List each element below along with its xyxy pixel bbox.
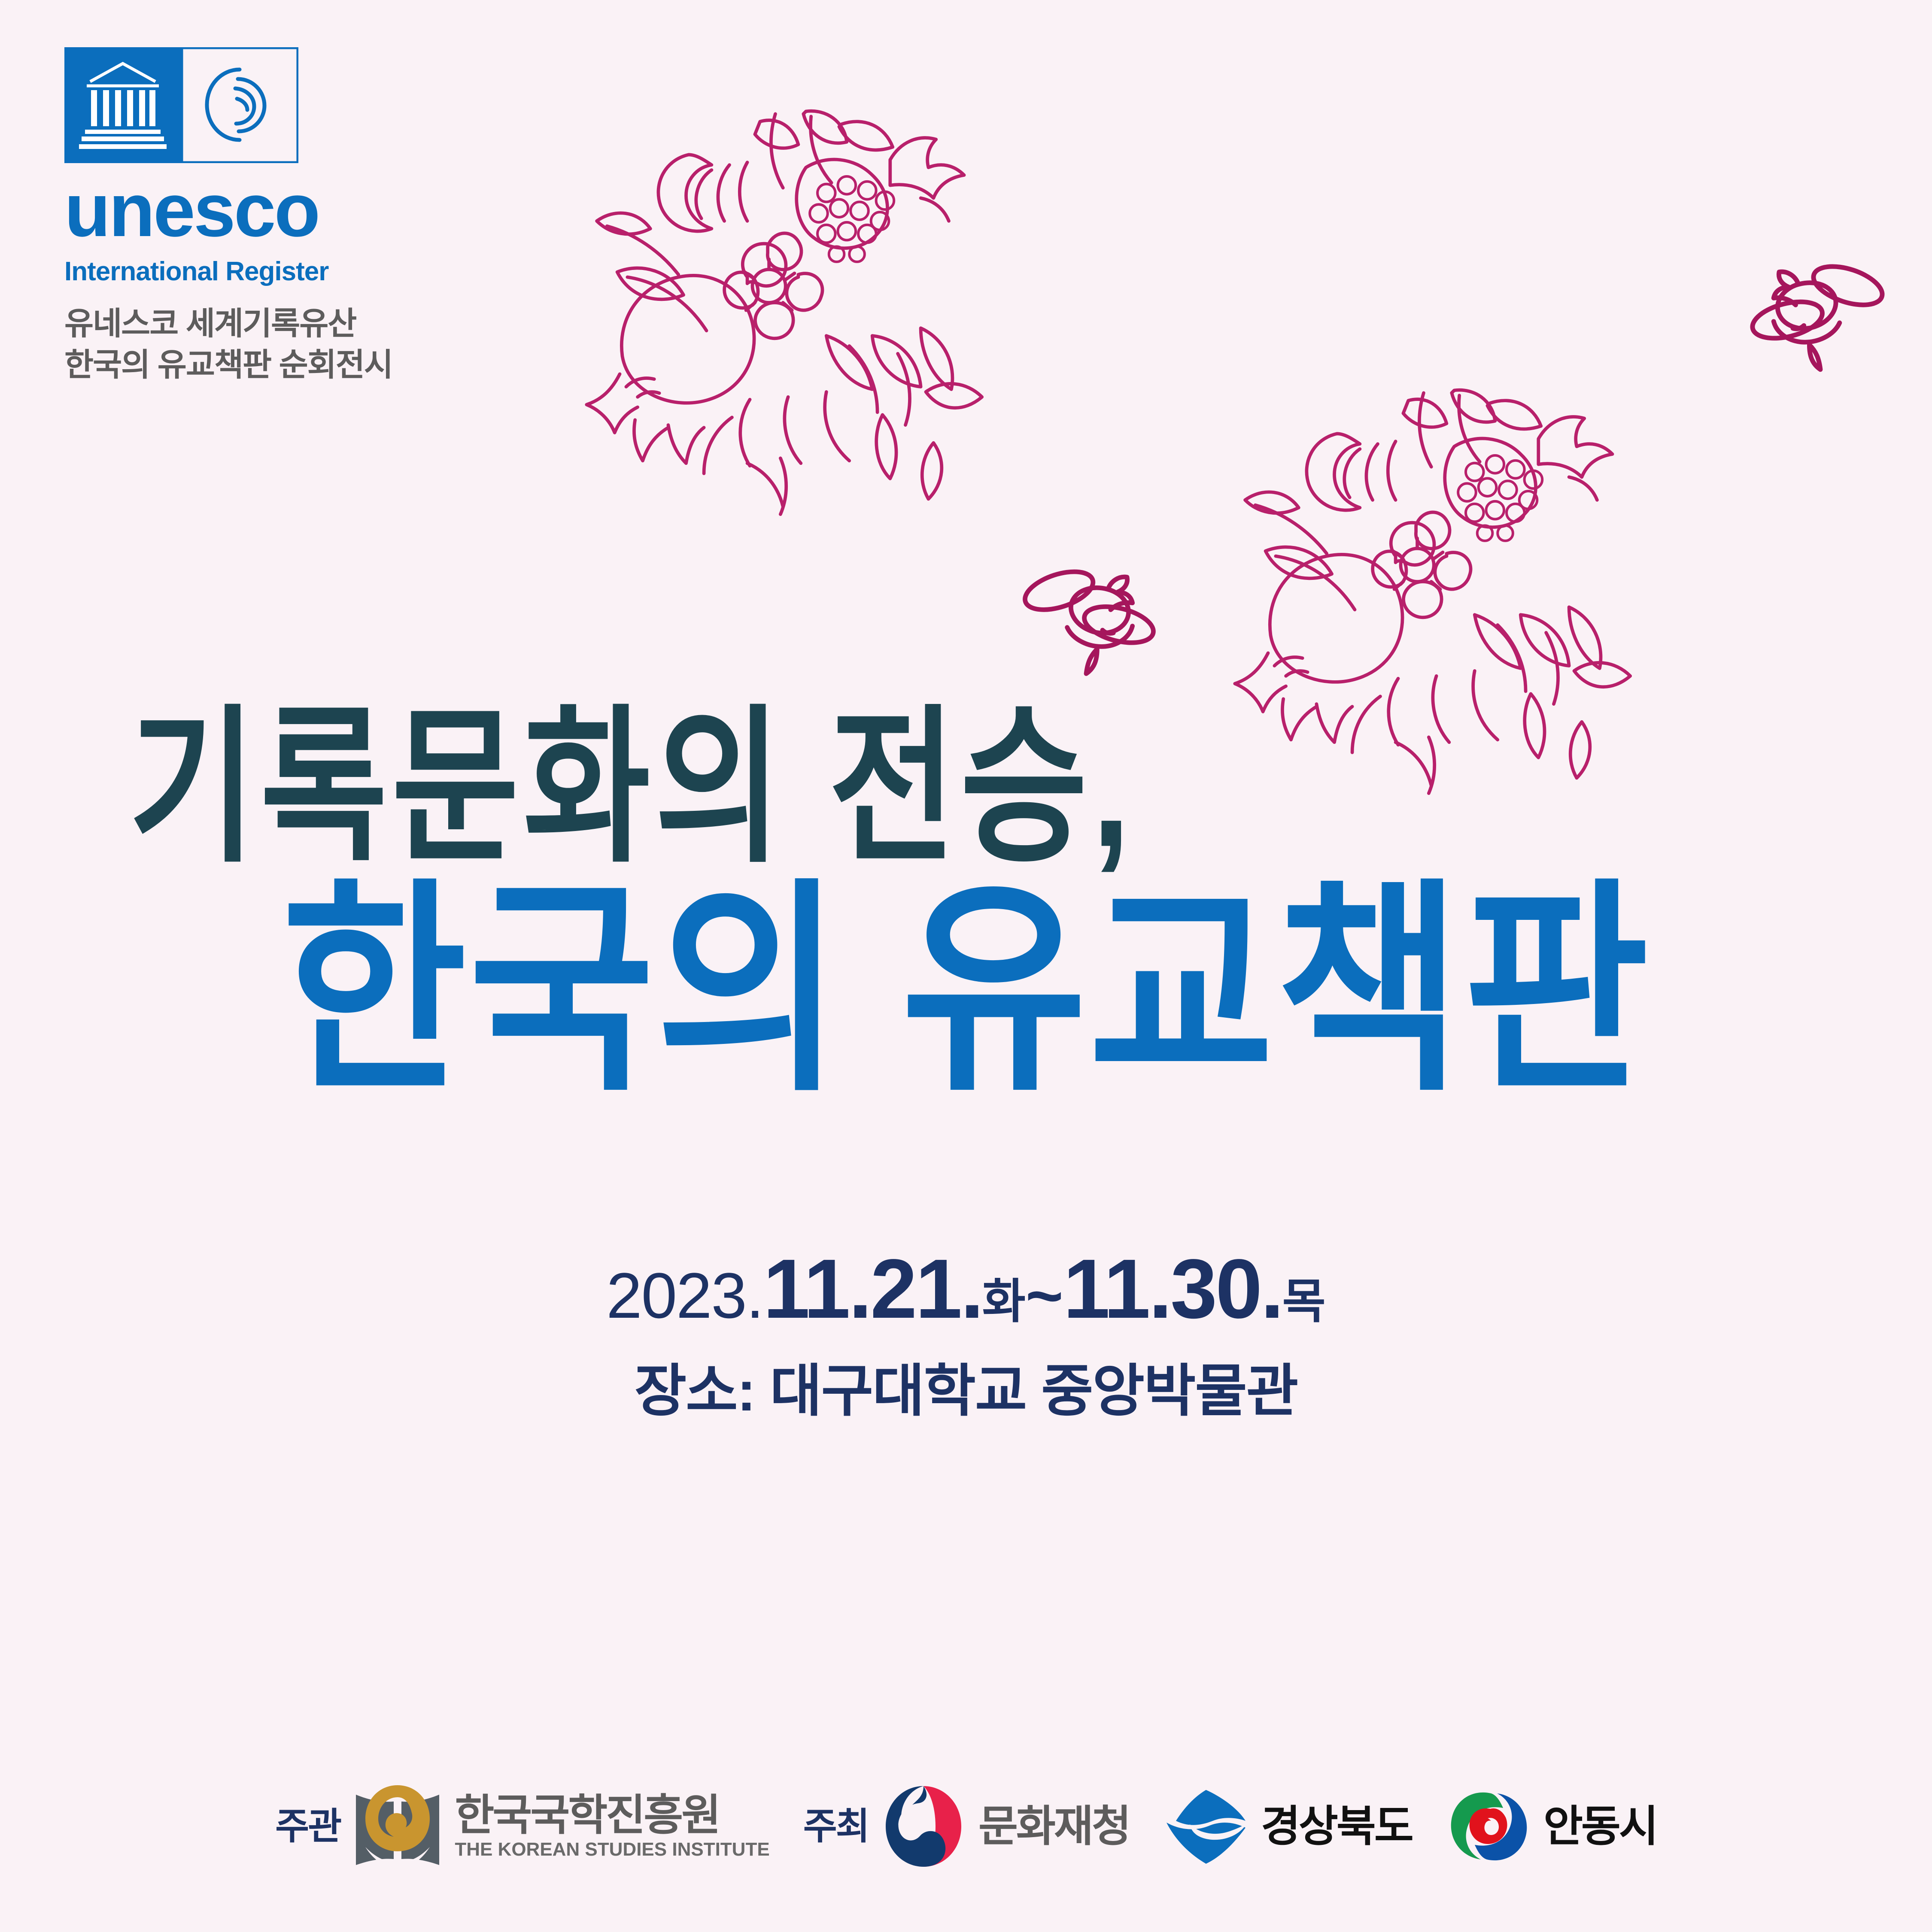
subtitle-line-1: 유네스코 세계기록유산 <box>64 303 451 344</box>
unesco-international-register-label: International Register <box>64 258 451 285</box>
andong-city-spiral-icon <box>1446 1786 1531 1867</box>
korean-studies-institute-name-en: THE KOREAN STUDIES INSTITUTE <box>455 1840 769 1859</box>
andong-city-name: 안동시 <box>1543 1805 1657 1848</box>
page-title-line-2: 한국의 유교책판 <box>0 878 1932 1104</box>
unesco-emblem-icon <box>64 47 298 163</box>
bee-motif-1 <box>1005 545 1168 682</box>
date-year: 2023. <box>606 1259 763 1331</box>
page-title-line-1: 기록문화의 전승, <box>129 704 1135 873</box>
exhibition-date-range: 2023.11.21.화~11.30.목 <box>0 1247 1932 1331</box>
logo-korean-studies-institute: 한국국학진흥원 THE KOREAN STUDIES INSTITUTE <box>352 1783 769 1871</box>
organizer-label: 주최 <box>803 1808 869 1845</box>
pomegranate-floral-motif-2 <box>1202 365 1640 798</box>
date-end-weekday: 목 <box>1282 1275 1326 1328</box>
logo-gyeongsangbuk-do: 경상북도 <box>1163 1786 1412 1867</box>
korean-studies-institute-name: 한국국학진흥원 <box>455 1794 719 1837</box>
date-start-month: 11. <box>763 1242 871 1336</box>
logo-andong-city: 안동시 <box>1446 1786 1657 1867</box>
date-start-day: 21. <box>870 1242 982 1336</box>
gyeongsangbuk-do-wave-icon <box>1163 1786 1249 1867</box>
footer-sponsor-bar: 주관 한국국학진흥원 THE KOREAN STUDIES INSTITUTE … <box>0 1756 1932 1897</box>
host-label: 주관 <box>275 1808 340 1845</box>
cultural-heritage-administration-name: 문화재청 <box>978 1805 1130 1848</box>
bee-motif-2 <box>1735 240 1906 378</box>
unesco-header-block: unesco International Register 유네스코 세계기록유… <box>64 47 451 385</box>
gyeongsangbuk-do-name: 경상북도 <box>1261 1805 1412 1848</box>
korean-studies-institute-book-icon <box>352 1783 443 1871</box>
korean-government-taegeuk-icon <box>881 1783 966 1869</box>
date-end-day: 30. <box>1170 1242 1282 1336</box>
date-range-mark: ~ <box>1026 1259 1063 1331</box>
unesco-wordmark: unesco <box>64 173 451 248</box>
date-start-weekday: 화 <box>982 1275 1026 1328</box>
logo-cultural-heritage-administration: 문화재청 <box>881 1783 1130 1869</box>
exhibition-subtitle-korean: 유네스코 세계기록유산 한국의 유교책판 순회전시 <box>64 303 451 385</box>
subtitle-line-2: 한국의 유교책판 순회전시 <box>64 344 451 385</box>
date-end-month: 11. <box>1063 1242 1170 1336</box>
exhibition-venue: 장소: 대구대학교 중앙박물관 <box>0 1363 1932 1419</box>
pomegranate-floral-motif-1 <box>554 86 992 519</box>
